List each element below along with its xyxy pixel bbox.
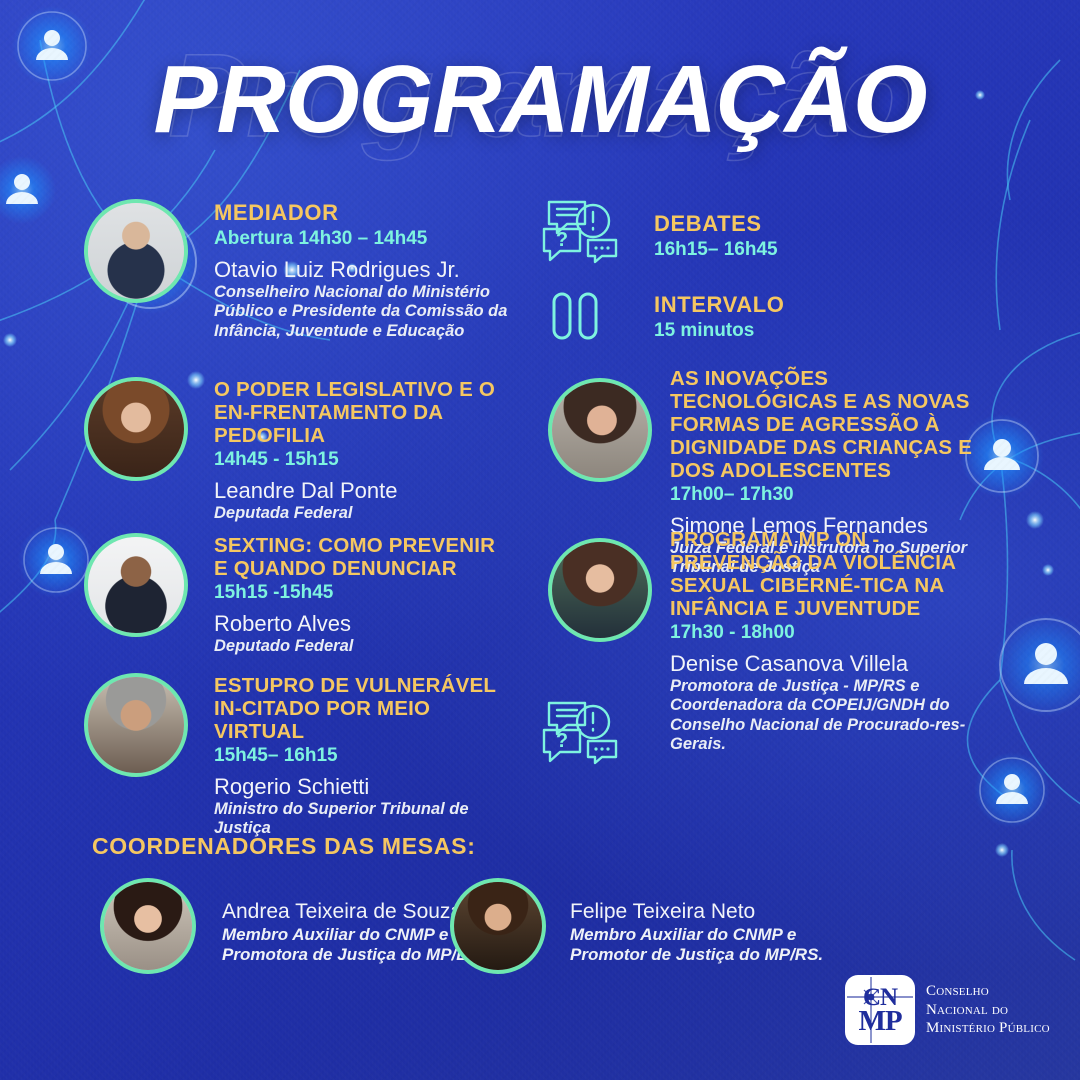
session-time: 14h45 - 15h15 (214, 449, 514, 472)
avatar-simone (548, 378, 652, 482)
logo-mp-text: MP (845, 1005, 915, 1038)
session-programa-mp-on: PROGRAMA MP ON - PREVENÇÃO DA VIOLÊNCIA … (670, 529, 1000, 755)
page-title: Programação PROGRAMAÇÃO (0, 22, 1080, 162)
debates-icon: ? (541, 196, 621, 268)
avatar-otavio (84, 199, 188, 303)
speaker-name: Leandre Dal Ponte (214, 479, 514, 503)
break-intervalo: INTERVALO 15 minutos (654, 292, 954, 350)
session-time: 17h30 - 18h00 (670, 622, 1000, 645)
break-debates-2 (654, 712, 954, 719)
debates-icon: ? (541, 697, 621, 769)
logo-line-3: Ministério Público (926, 1019, 1050, 1038)
avatar-denise (548, 538, 652, 642)
avatar-leandre (84, 377, 188, 481)
session-time: 15h15 -15h45 (214, 582, 514, 605)
speaker-name: Rogerio Schietti (214, 775, 514, 799)
session-poder-legislativo: O PODER LEGISLATIVO E O EN-FRENTAMENTO D… (214, 379, 514, 523)
session-sexting: SEXTING: COMO PREVENIR E QUANDO DENUNCIA… (214, 535, 514, 656)
logo-line-2: Nacional do (926, 1001, 1050, 1020)
session-time: 15h45– 16h15 (214, 745, 514, 768)
speaker-role: Deputado Federal (214, 637, 514, 656)
avatar-rogerio (84, 673, 188, 777)
speaker-name: Otavio Luiz Rodrigues Jr. (214, 258, 514, 282)
speaker-role: Deputada Federal (214, 504, 514, 523)
session-time: Abertura 14h30 – 14h45 (214, 228, 514, 251)
title-text: PROGRAMAÇÃO (0, 52, 1080, 148)
pause-icon (549, 290, 605, 342)
cnmp-logo: CN MP Conselho Nacional do Ministério Pú… (845, 975, 1050, 1045)
programacao-poster: Programação PROGRAMAÇÃO MEDIADOR Abertur… (0, 0, 1080, 1080)
person-node (974, 752, 1050, 828)
person-node (994, 613, 1080, 717)
session-title: O PODER LEGISLATIVO E O EN-FRENTAMENTO D… (214, 379, 514, 448)
logo-line-1: Conselho (926, 982, 1050, 1001)
session-mediador: MEDIADOR Abertura 14h30 – 14h45 Otavio L… (214, 200, 514, 341)
svg-text:?: ? (556, 229, 568, 251)
avatar-felipe (450, 878, 546, 974)
coordinators-heading: COORDENADORES DAS MESAS: (92, 833, 476, 860)
break-debates-1: DEBATES 16h15– 16h45 (654, 211, 954, 269)
avatar-roberto (84, 533, 188, 637)
coordinator-felipe: Felipe Teixeira Neto Membro Auxiliar do … (570, 900, 870, 965)
break-time: 15 minutos (654, 320, 954, 343)
person-node (18, 522, 94, 598)
coordinator-name: Felipe Teixeira Neto (570, 900, 870, 924)
session-title: SEXTING: COMO PREVENIR E QUANDO DENUNCIA… (214, 535, 514, 581)
break-time: 16h15– 16h45 (654, 239, 954, 262)
cnmp-logo-mark: CN MP (845, 975, 915, 1045)
session-label: MEDIADOR (214, 200, 514, 226)
session-estupro-vulneravel: ESTUPRO DE VULNERÁVEL IN-CITADO POR MEIO… (214, 675, 514, 839)
speaker-name: Roberto Alves (214, 612, 514, 636)
break-label: DEBATES (654, 211, 954, 237)
avatar-andrea (100, 878, 196, 974)
session-title: AS INOVAÇÕES TECNOLÓGICAS E AS NOVAS FOR… (670, 368, 1000, 483)
speaker-name: Denise Casanova Villela (670, 652, 1000, 676)
person-node (0, 156, 56, 224)
speaker-role: Conselheiro Nacional do Ministério Públi… (214, 283, 514, 341)
svg-text:?: ? (556, 730, 568, 752)
session-title: ESTUPRO DE VULNERÁVEL IN-CITADO POR MEIO… (214, 675, 514, 744)
session-title: PROGRAMA MP ON - PREVENÇÃO DA VIOLÊNCIA … (670, 529, 1000, 621)
coordinator-role: Membro Auxiliar do CNMP e Promotor de Ju… (570, 925, 870, 966)
break-label: INTERVALO (654, 292, 954, 318)
session-time: 17h00– 17h30 (670, 484, 1000, 507)
cnmp-logo-text: Conselho Nacional do Ministério Público (926, 982, 1050, 1038)
